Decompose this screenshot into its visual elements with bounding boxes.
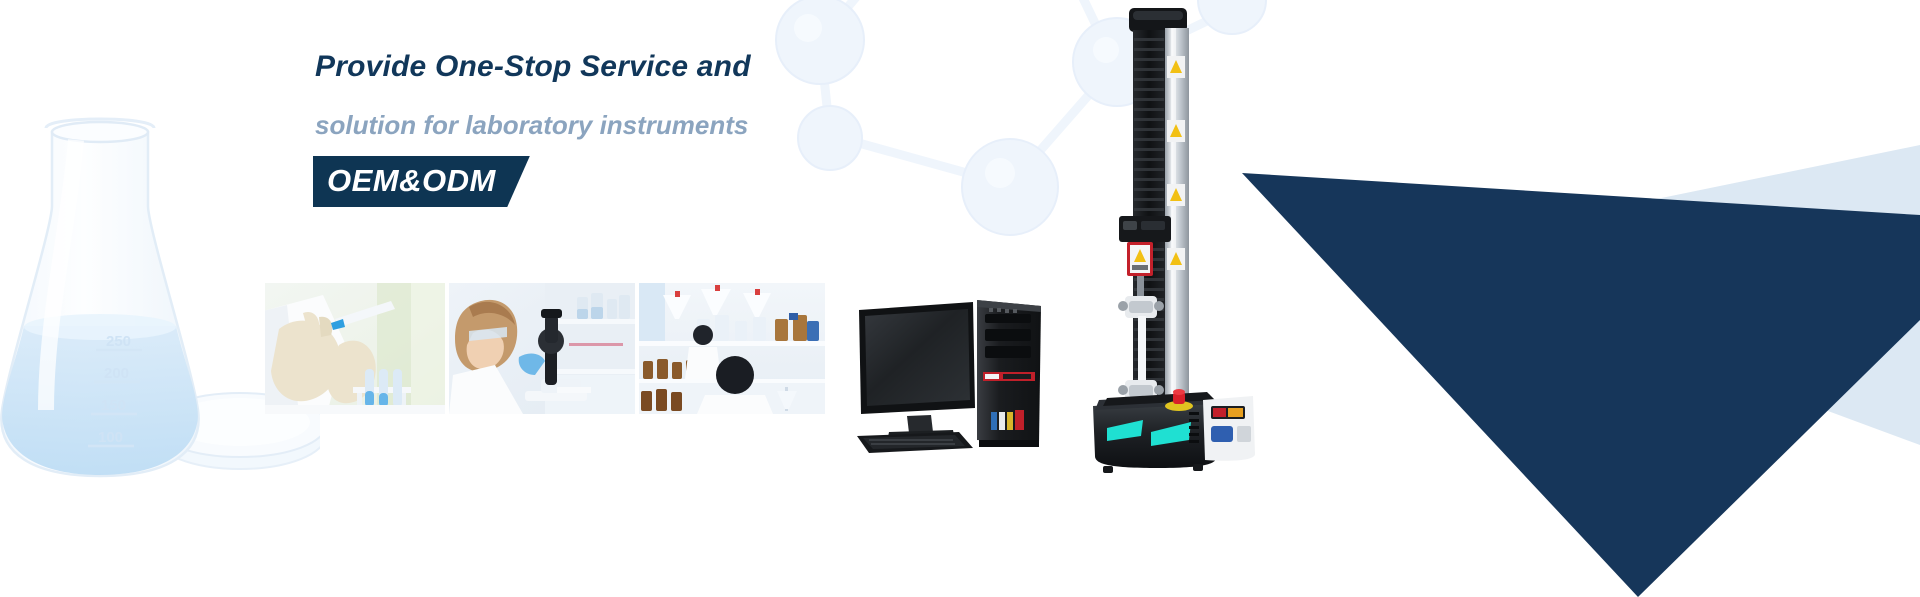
page-title: Provide One-Stop Service and — [315, 52, 953, 82]
red-warning-block — [1127, 242, 1153, 276]
svg-text:150: 150 — [101, 397, 126, 414]
photo-lab-bench — [639, 283, 825, 414]
emergency-stop-icon — [1165, 389, 1193, 411]
upper-grip — [1118, 276, 1164, 318]
promo-banner: 250 200 150 100 Provide One-Stop Service… — [0, 0, 1920, 597]
warning-label-icon — [1167, 56, 1185, 270]
computer-monitor — [859, 302, 975, 442]
machine-base — [1093, 389, 1255, 473]
photo-pipetting — [265, 283, 445, 414]
badge-label: OEM&ODM — [327, 163, 496, 198]
photo-microscope — [449, 283, 635, 414]
svg-text:100: 100 — [98, 429, 123, 446]
crosshead — [1119, 216, 1171, 242]
svg-text:200: 200 — [104, 365, 129, 382]
oem-odm-badge: OEM&ODM — [313, 156, 530, 207]
light-blue-polygon-icon — [1360, 145, 1920, 475]
svg-text:250: 250 — [106, 333, 131, 350]
erlenmeyer-flask-icon: 250 200 150 100 — [1, 119, 198, 476]
desktop-computer — [855, 296, 1080, 456]
computer-keyboard — [857, 432, 973, 453]
computer-tower — [977, 300, 1041, 447]
universal-testing-machine — [1085, 8, 1300, 473]
page-subtitle: solution for laboratory instruments — [315, 112, 953, 138]
headline-copy-block: Provide One-Stop Service and solution fo… — [313, 52, 953, 207]
lower-grip — [1118, 380, 1164, 436]
lab-photo-strip — [265, 283, 825, 414]
navy-arrow-wedge-icon — [1220, 135, 1920, 597]
